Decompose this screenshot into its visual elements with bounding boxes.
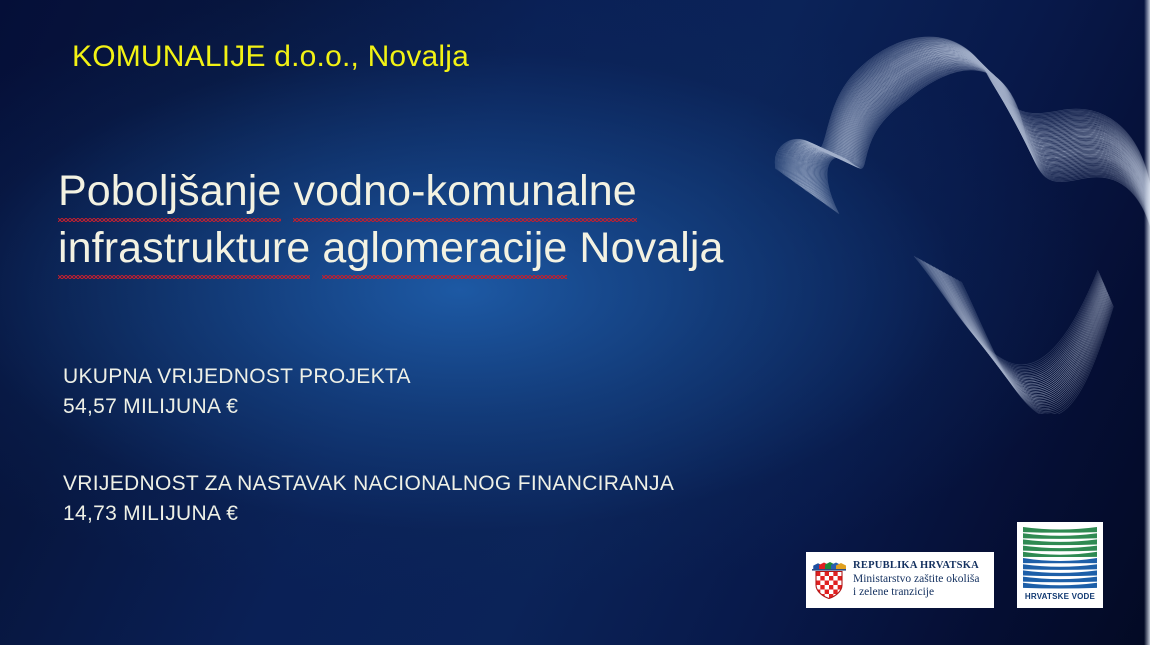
ministry-name-republic: REPUBLIKA HRVATSKA [853,560,979,572]
croatian-coat-of-arms-icon [812,561,846,599]
headline-word-vodno-komunalne: vodno-komunalne [293,163,636,220]
stat-block-national-financing: VRIJEDNOST ZA NASTAVAK NACIONALNOG FINAN… [63,469,674,530]
headline-line-1: Poboljšanje vodno-komunalne [58,163,858,220]
headline-word-novalja: Novalja [579,224,723,272]
ministry-name-line-3: i zelene tranzicije [853,586,979,600]
ministry-name-line-2: Ministarstvo zaštite okoliša [853,573,979,587]
headline-word-infrastrukture: infrastrukture [58,220,310,277]
stat-label: UKUPNA VRIJEDNOST PROJEKTA [63,362,674,392]
hrvatske-vode-label: HRVATSKE VODE [1021,592,1099,601]
headline-word-aglomeracije: aglomeracije [322,220,567,277]
hrvatske-vode-logo: HRVATSKE VODE [1017,522,1103,608]
ministry-logo-text: REPUBLIKA HRVATSKA Ministarstvo zaštite … [853,560,979,600]
project-value-stats: UKUPNA VRIJEDNOST PROJEKTA 54,57 MILIJUN… [63,362,674,530]
headline-word-poboljsanje: Poboljšanje [58,163,281,220]
stat-value: 54,57 MILIJUNA € [63,392,674,422]
stat-value: 14,73 MILIJUNA € [63,499,674,529]
company-name: KOMUNALIJE d.o.o., Novalja [72,40,469,74]
headline-line-2: infrastrukture aglomeracije Novalja [58,220,858,277]
stat-label: VRIJEDNOST ZA NASTAVAK NACIONALNOG FINAN… [63,469,674,499]
presentation-slide: KOMUNALIJE d.o.o., Novalja Poboljšanje v… [0,0,1150,645]
page-title: Poboljšanje vodno-komunalne infrastruktu… [58,163,858,277]
ministry-logo: REPUBLIKA HRVATSKA Ministarstvo zaštite … [806,552,994,608]
water-waves-icon [1021,526,1099,590]
stat-block-total-value: UKUPNA VRIJEDNOST PROJEKTA 54,57 MILIJUN… [63,362,674,423]
